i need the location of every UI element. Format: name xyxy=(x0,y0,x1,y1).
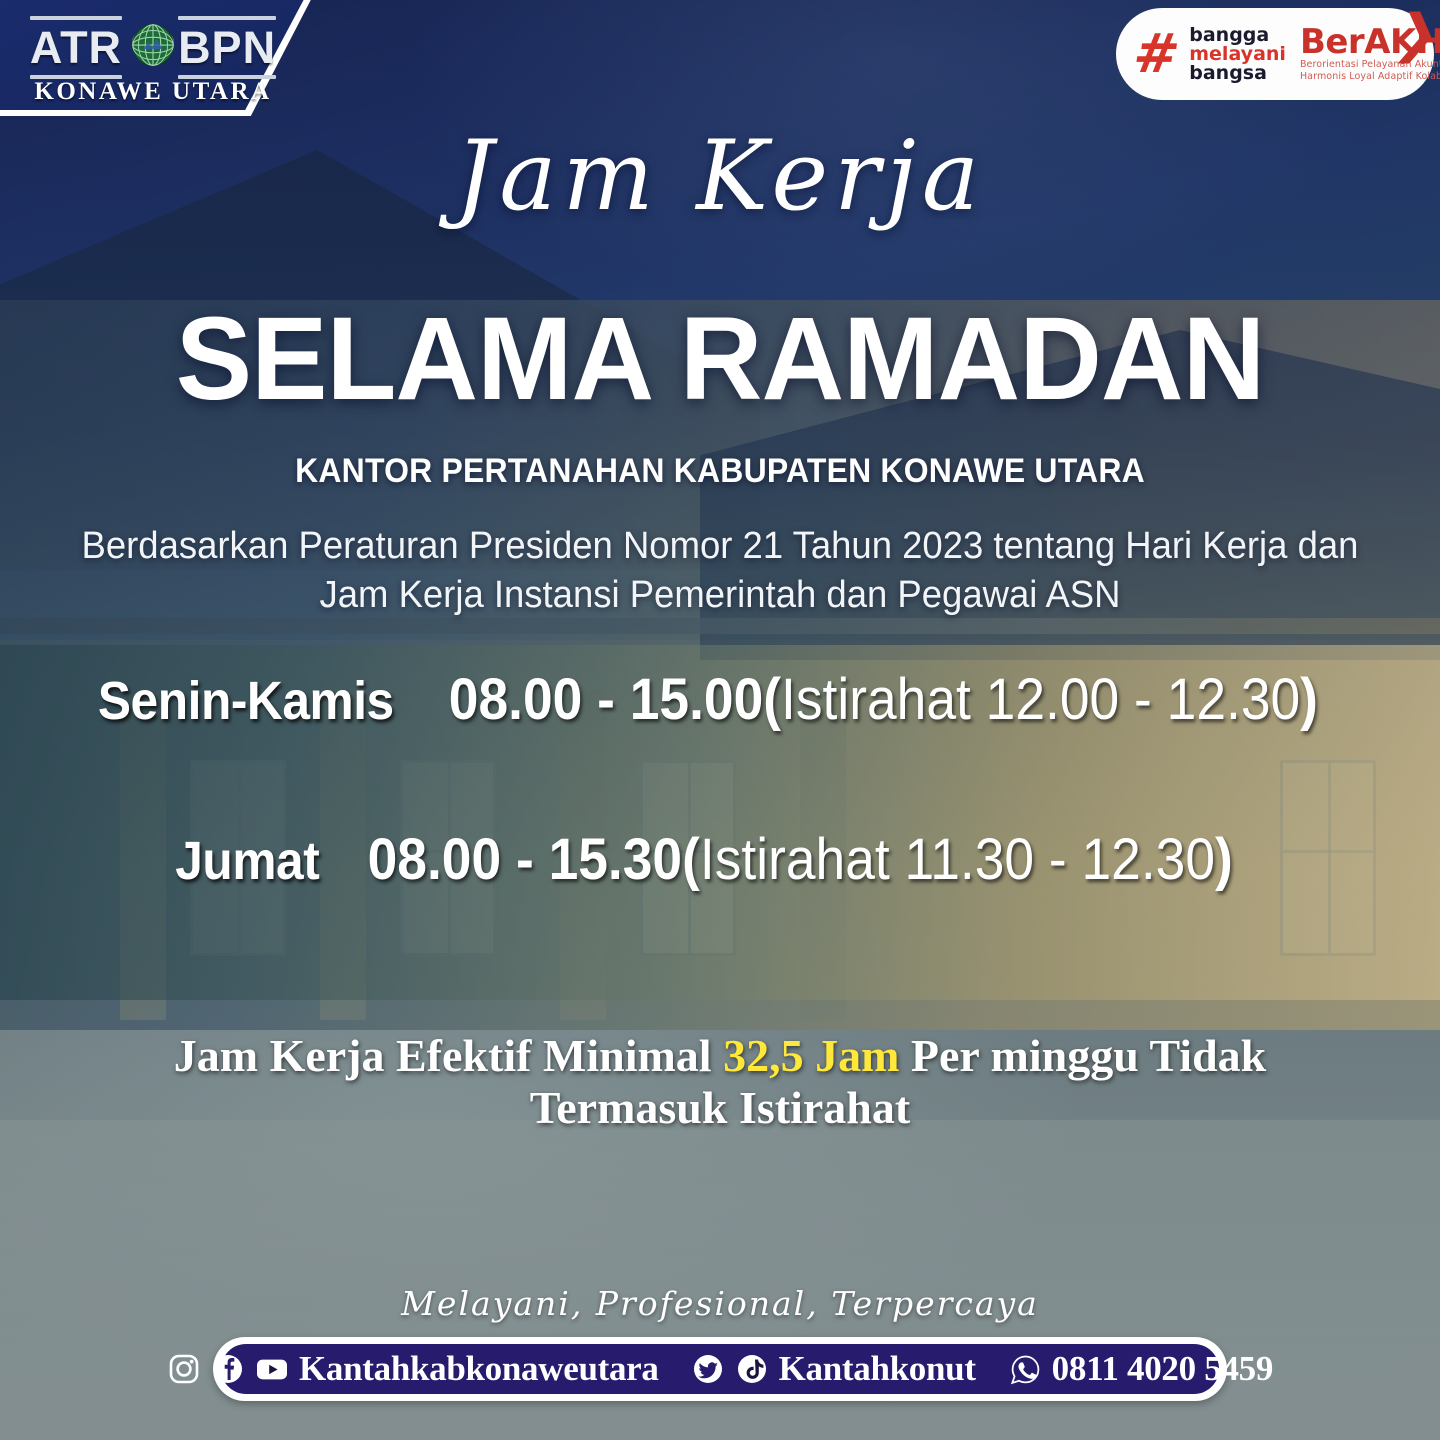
social-phone[interactable]: 0811 4020 5459 xyxy=(1052,1349,1273,1389)
legal-reference: Berdasarkan Peraturan Presiden Nomor 21 … xyxy=(29,522,1411,619)
script-title: Jam Kerja xyxy=(0,120,1440,232)
effective-highlight: 32,5 Jam xyxy=(723,1030,899,1081)
effective-part1: Jam Kerja Efektif Minimal xyxy=(174,1030,723,1081)
schedule-day: Jumat xyxy=(176,833,320,890)
whatsapp-icon[interactable] xyxy=(1008,1352,1043,1387)
instagram-icon[interactable] xyxy=(167,1352,202,1387)
schedule-break: Istirahat 12.00 - 12.30 xyxy=(781,667,1300,732)
akhlak-line3: bangsa xyxy=(1189,64,1286,83)
schedule-paren-close: ) xyxy=(1300,667,1318,732)
youtube-icon[interactable] xyxy=(255,1352,290,1387)
berakhlak-badge: # bangga melayani bangsa BerAKHLAK Beror… xyxy=(1116,8,1434,100)
schedule-day: Senin-Kamis xyxy=(97,673,393,730)
swoosh-icon: ❯ xyxy=(1390,4,1440,64)
schedule-row: Jumat 08.00 - 15.30(Istirahat 11.30 - 12… xyxy=(0,828,1440,893)
schedule-row: Senin-Kamis 08.00 - 15.00(Istirahat 12.0… xyxy=(0,668,1440,733)
poster-canvas: ATR BPN xyxy=(0,0,1440,1440)
akhlak-line1: bangga xyxy=(1189,26,1286,45)
tagline: Melayani, Profesional, Terpercaya xyxy=(0,1284,1440,1323)
social-handle-secondary[interactable]: Kantahkonut xyxy=(779,1349,976,1389)
schedule-time: 08.00 - 15.00(Istirahat 12.00 - 12.30) xyxy=(448,668,1317,733)
social-handle-main[interactable]: Kantahkabkonaweutara xyxy=(299,1349,659,1389)
legal-line-2: Jam Kerja Instansi Pemerintah dan Pegawa… xyxy=(29,571,1411,620)
effective-hours-note: Jam Kerja Efektif Minimal 32,5 Jam Per m… xyxy=(70,1030,1370,1133)
akhlak-line2: melayani xyxy=(1189,45,1286,64)
akhlak-values-line2: Harmonis Loyal Adaptif Kolaboratif xyxy=(1300,71,1440,83)
schedule-break: Istirahat 11.30 - 12.30 xyxy=(700,827,1215,892)
schedule-paren-close: ) xyxy=(1215,827,1233,892)
social-bar: Kantahkabkonaweutara Kantahkonut 0811 40… xyxy=(221,1344,1219,1394)
logo-word-atr: ATR xyxy=(30,11,122,84)
twitter-icon[interactable] xyxy=(691,1352,726,1387)
organization-name: KANTOR PERTANAHAN KABUPATEN KONAWE UTARA xyxy=(43,452,1397,491)
schedule-hours: 08.00 - 15.00 xyxy=(448,667,762,732)
page-title: SELAMA RAMADAN xyxy=(22,300,1419,418)
schedule-time: 08.00 - 15.30(Istirahat 11.30 - 12.30) xyxy=(368,828,1233,893)
hash-icon: # xyxy=(1131,32,1182,75)
schedule-paren-open: ( xyxy=(682,827,700,892)
bpn-globe-icon xyxy=(122,16,184,78)
schedule-paren-open: ( xyxy=(763,667,781,732)
logo-word-bpn: BPN xyxy=(178,11,276,84)
facebook-icon[interactable] xyxy=(211,1352,246,1387)
schedule-hours: 08.00 - 15.30 xyxy=(368,827,682,892)
legal-line-1: Berdasarkan Peraturan Presiden Nomor 21 … xyxy=(29,522,1411,571)
tiktok-icon[interactable] xyxy=(735,1352,770,1387)
